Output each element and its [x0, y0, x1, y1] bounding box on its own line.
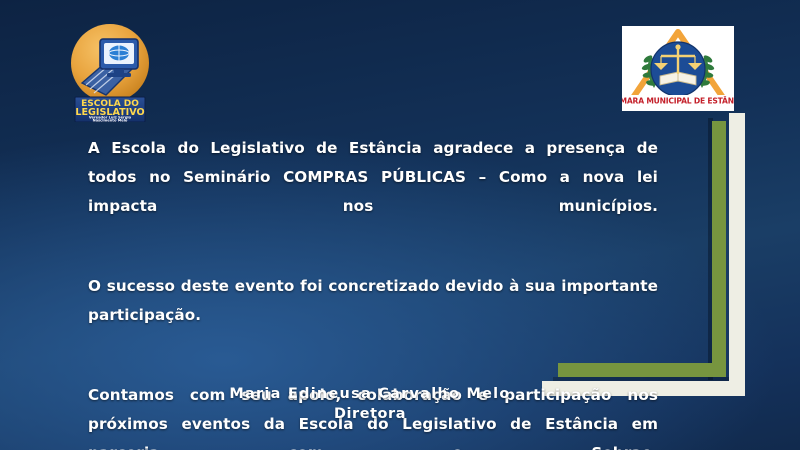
- camara-logo-graphic: CÂMARA MUNICIPAL DE ESTÂNCIA: [622, 26, 734, 111]
- signature-name: Maria Edineusa Carvalho Melo: [0, 384, 740, 404]
- escola-logo-graphic: ESCOLA DO LEGISLATIVO Vereador Luiz Sérg…: [62, 17, 158, 122]
- camara-caption: CÂMARA MUNICIPAL DE ESTÂNCIA: [622, 97, 734, 106]
- signature-role: Diretora: [0, 404, 740, 424]
- paragraph-2: O sucesso deste evento foi concretizado …: [88, 272, 658, 359]
- escola-do-legislativo-logo: ESCOLA DO LEGISLATIVO Vereador Luiz Sérg…: [62, 17, 158, 122]
- presentation-slide: ESCOLA DO LEGISLATIVO Vereador Luiz Sérg…: [0, 0, 800, 450]
- camara-municipal-de-estancia-logo: CÂMARA MUNICIPAL DE ESTÂNCIA: [622, 26, 734, 111]
- signature-block: Maria Edineusa Carvalho Melo Diretora: [0, 384, 740, 424]
- bracket-cream-vertical: [729, 113, 745, 396]
- paragraph-1: A Escola do Legislativo de Estância agra…: [88, 134, 658, 250]
- escola-subtitle-line2: Nascimento Melo: [93, 118, 128, 122]
- bracket-green-vertical: [712, 121, 726, 377]
